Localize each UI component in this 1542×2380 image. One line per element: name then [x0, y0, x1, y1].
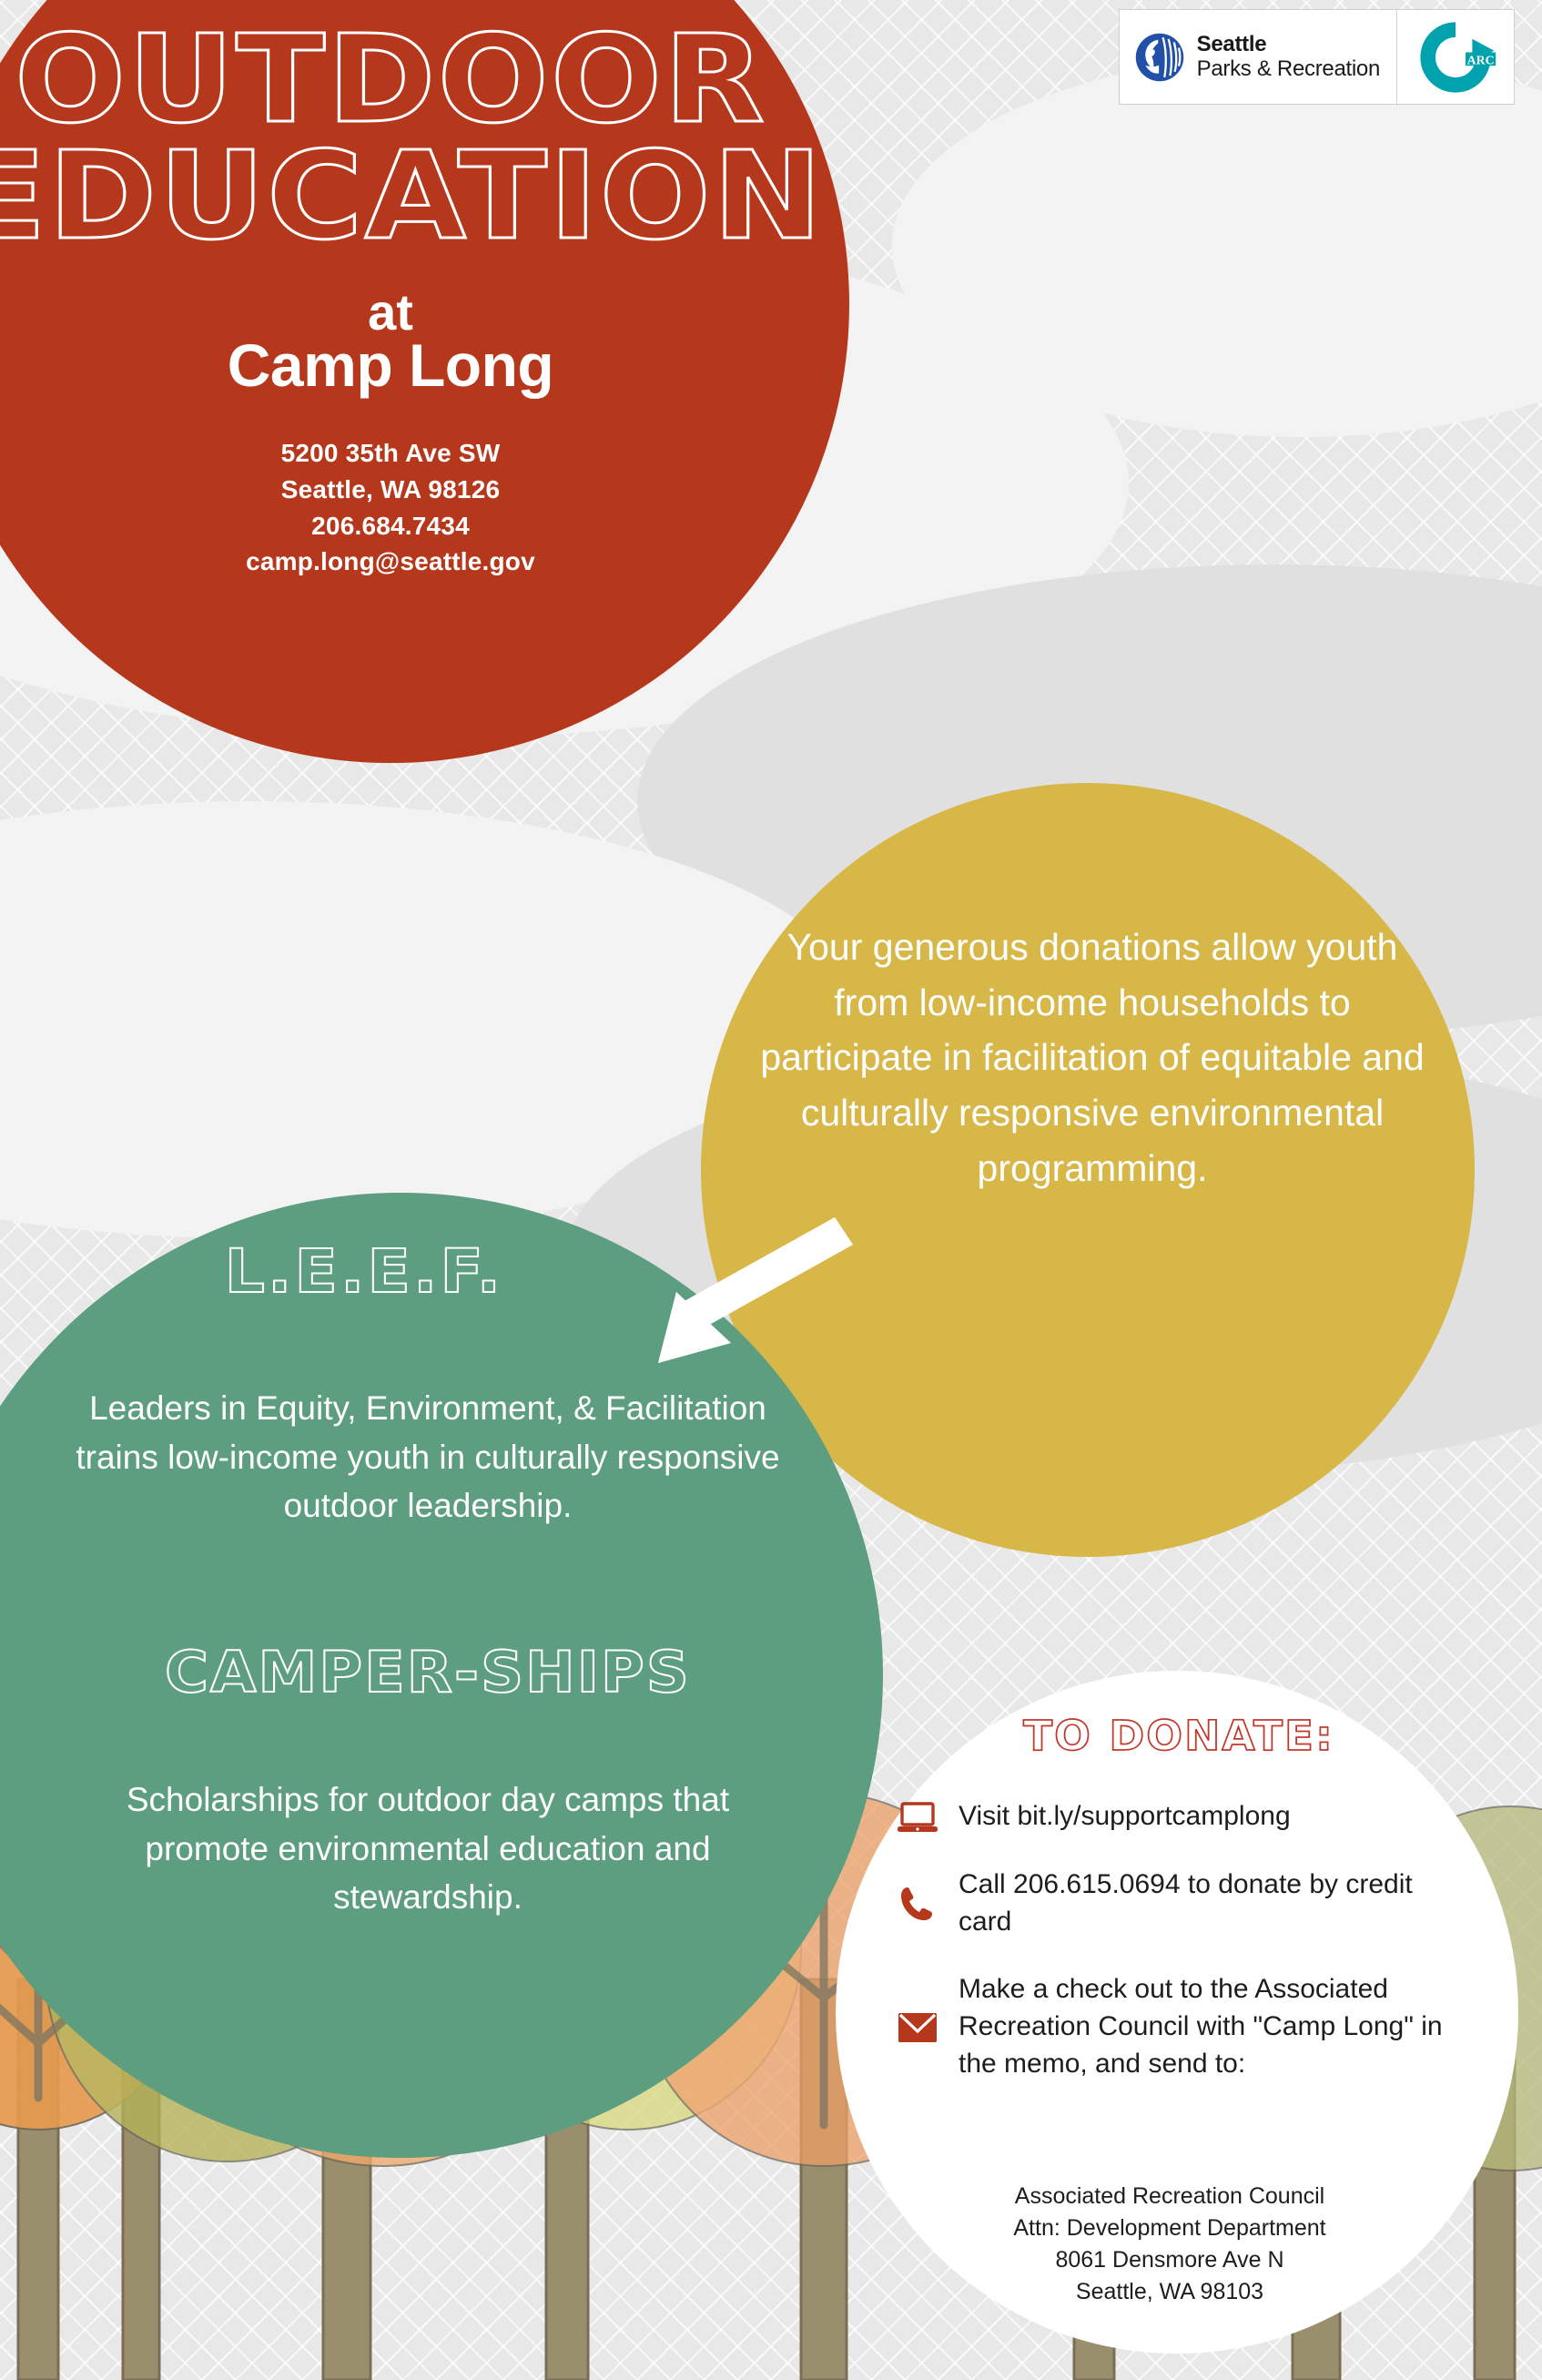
arrow-left-icon	[624, 1197, 897, 1370]
contact-phone[interactable]: 206.684.7434	[0, 508, 849, 544]
donate-options-list: Visit bit.ly/supportcamplong Call 206.61…	[897, 1798, 1443, 2114]
donate-option-phone[interactable]: Call 206.615.0694 to donate by credit ca…	[897, 1866, 1443, 1941]
mailing-city: Seattle, WA 98103	[897, 2276, 1443, 2308]
seattle-logo-line1: Seattle	[1197, 33, 1380, 57]
phone-icon	[897, 1885, 938, 1923]
envelope-icon	[897, 2012, 938, 2043]
donate-option-phone-text: Call 206.615.0694 to donate by credit ca…	[959, 1866, 1443, 1941]
headline-line-1: OUTDOOR	[0, 23, 886, 139]
donate-option-check-text: Make a check out to the Associated Recre…	[959, 1971, 1443, 2082]
donate-option-check[interactable]: Make a check out to the Associated Recre…	[897, 1971, 1443, 2082]
campership-description: Scholarships for outdoor day camps that …	[64, 1775, 792, 1922]
arc-circular-arrow-icon: ARC	[1414, 15, 1497, 99]
laptop-icon	[897, 1798, 938, 1835]
contact-street: 5200 35th Ave SW	[0, 435, 849, 472]
mailing-address: Associated Recreation Council Attn: Deve…	[897, 2181, 1443, 2308]
headline-line-2: EDUCATION	[0, 139, 886, 256]
leef-title: L.E.E.F.	[96, 1236, 632, 1307]
contact-city: Seattle, WA 98126	[0, 472, 849, 508]
donations-description: Your generous donations allow youth from…	[746, 920, 1438, 1195]
logo-bar: Seattle Parks & Recreation ARC	[1119, 9, 1515, 105]
headline: OUTDOOR EDUCATION	[0, 23, 886, 255]
donate-option-web[interactable]: Visit bit.ly/supportcamplong	[897, 1798, 1443, 1836]
seattle-city-seal-icon	[1134, 32, 1185, 83]
arc-logo-label: ARC	[1467, 53, 1495, 66]
mailing-street: 8061 Densmore Ave N	[897, 2244, 1443, 2276]
page-title: Camp Long	[0, 331, 849, 400]
mailing-org: Associated Recreation Council	[897, 2181, 1443, 2212]
contact-email[interactable]: camp.long@seattle.gov	[0, 544, 849, 580]
donate-heading: TO DONATE:	[880, 1712, 1476, 1760]
campership-title: CAMPER-SHIPS	[65, 1639, 791, 1705]
poster-canvas: Support OUTDOOR EDUCATION at Camp Long 5…	[0, 0, 1542, 2380]
mailing-attn: Attn: Development Department	[897, 2212, 1443, 2244]
arc-logo: ARC	[1397, 10, 1514, 104]
donate-option-web-text: Visit bit.ly/supportcamplong	[959, 1798, 1291, 1836]
seattle-logo-line2: Parks & Recreation	[1197, 57, 1380, 82]
leef-description: Leaders in Equity, Environment, & Facili…	[46, 1384, 810, 1531]
contact-info: 5200 35th Ave SW Seattle, WA 98126 206.6…	[0, 435, 849, 580]
seattle-parks-logo: Seattle Parks & Recreation	[1120, 10, 1397, 104]
